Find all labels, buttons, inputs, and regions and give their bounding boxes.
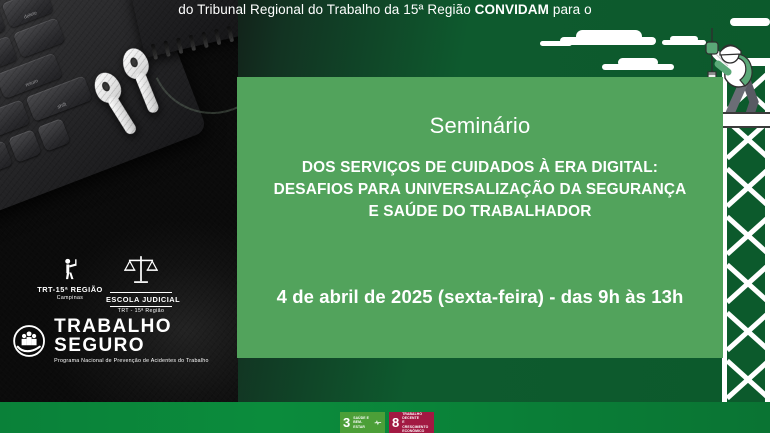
logo-trabalho-seguro: TRABALHO SEGURO Programa Nacional de Pre… bbox=[12, 317, 238, 364]
event-title-line: DESAFIOS PARA UNIVERSALIZAÇÃO DA SEGURAN… bbox=[245, 179, 715, 201]
header-invitation-line: do Tribunal Regional do Trabalho da 15ª … bbox=[0, 2, 770, 17]
event-title-line: DOS SERVIÇOS DE CUIDADOS À ERA DIGITAL: bbox=[245, 157, 715, 179]
tower-brace bbox=[722, 212, 770, 260]
hand-holding-people-icon bbox=[12, 321, 46, 361]
logo-trt15: TRT-15ª REGIÃO Campinas bbox=[34, 258, 106, 301]
tower-brace bbox=[722, 308, 770, 356]
tower-brace bbox=[722, 164, 770, 212]
cloud-shape bbox=[540, 41, 572, 46]
tower-brace bbox=[722, 260, 770, 308]
event-title: DOS SERVIÇOS DE CUIDADOS À ERA DIGITAL: … bbox=[245, 157, 715, 223]
poster-root: delete return shift bbox=[0, 0, 770, 433]
logo-escola-judicial-sub: TRT - 15ª Região bbox=[106, 308, 176, 314]
event-title-line: E SAÚDE DO TRABALHADOR bbox=[245, 201, 715, 223]
logo-group: TRT-15ª REGIÃO Campinas ESCOLA JUDICIAL … bbox=[0, 255, 238, 365]
logo-trt15-name: TRT-15ª REGIÃO bbox=[34, 285, 106, 294]
logo-trt15-sub: Campinas bbox=[34, 295, 106, 301]
logo-escola-judicial: ESCOLA JUDICIAL TRT - 15ª Região bbox=[106, 255, 176, 314]
heartbeat-icon bbox=[374, 418, 382, 427]
sdg-badge-3: 3 Saúde eBem-Estar bbox=[340, 412, 385, 433]
header-line-text: do Tribunal Regional do Trabalho da 15ª … bbox=[178, 2, 474, 17]
panel-kicker: Seminário bbox=[430, 113, 531, 139]
logo-trabalho-seguro-sub: Programa Nacional de Prevenção de Aciden… bbox=[54, 358, 238, 364]
justice-figure-icon bbox=[59, 258, 81, 280]
header-emphasis: CONVIDAM bbox=[475, 2, 549, 17]
sdg-badge-8: 8 Trabalho Decentee CrescimentoEconômico bbox=[389, 412, 434, 433]
cloud-shape bbox=[730, 18, 770, 26]
sdg-number: 8 bbox=[392, 416, 399, 429]
event-panel: Seminário DOS SERVIÇOS DE CUIDADOS À ERA… bbox=[237, 77, 723, 358]
header-line-tail: para o bbox=[549, 2, 592, 17]
logo-trabalho-seguro-name: TRABALHO SEGURO bbox=[54, 317, 238, 355]
sdg-label: Trabalho Decentee CrescimentoEconômico bbox=[402, 412, 428, 432]
scales-of-justice-icon bbox=[122, 255, 160, 285]
tower-brace bbox=[722, 356, 770, 404]
cloud-shape bbox=[602, 64, 674, 70]
logo-escola-judicial-name: ESCOLA JUDICIAL bbox=[106, 295, 176, 304]
cloud-shape bbox=[560, 37, 656, 45]
event-date: 4 de abril de 2025 (sexta-feira) - das 9… bbox=[237, 286, 723, 308]
sdg-badges: 3 Saúde eBem-Estar 8 Trabalho Decentee C… bbox=[340, 412, 434, 433]
sdg-label: Saúde eBem-Estar bbox=[353, 416, 371, 428]
sdg-number: 3 bbox=[343, 416, 350, 429]
